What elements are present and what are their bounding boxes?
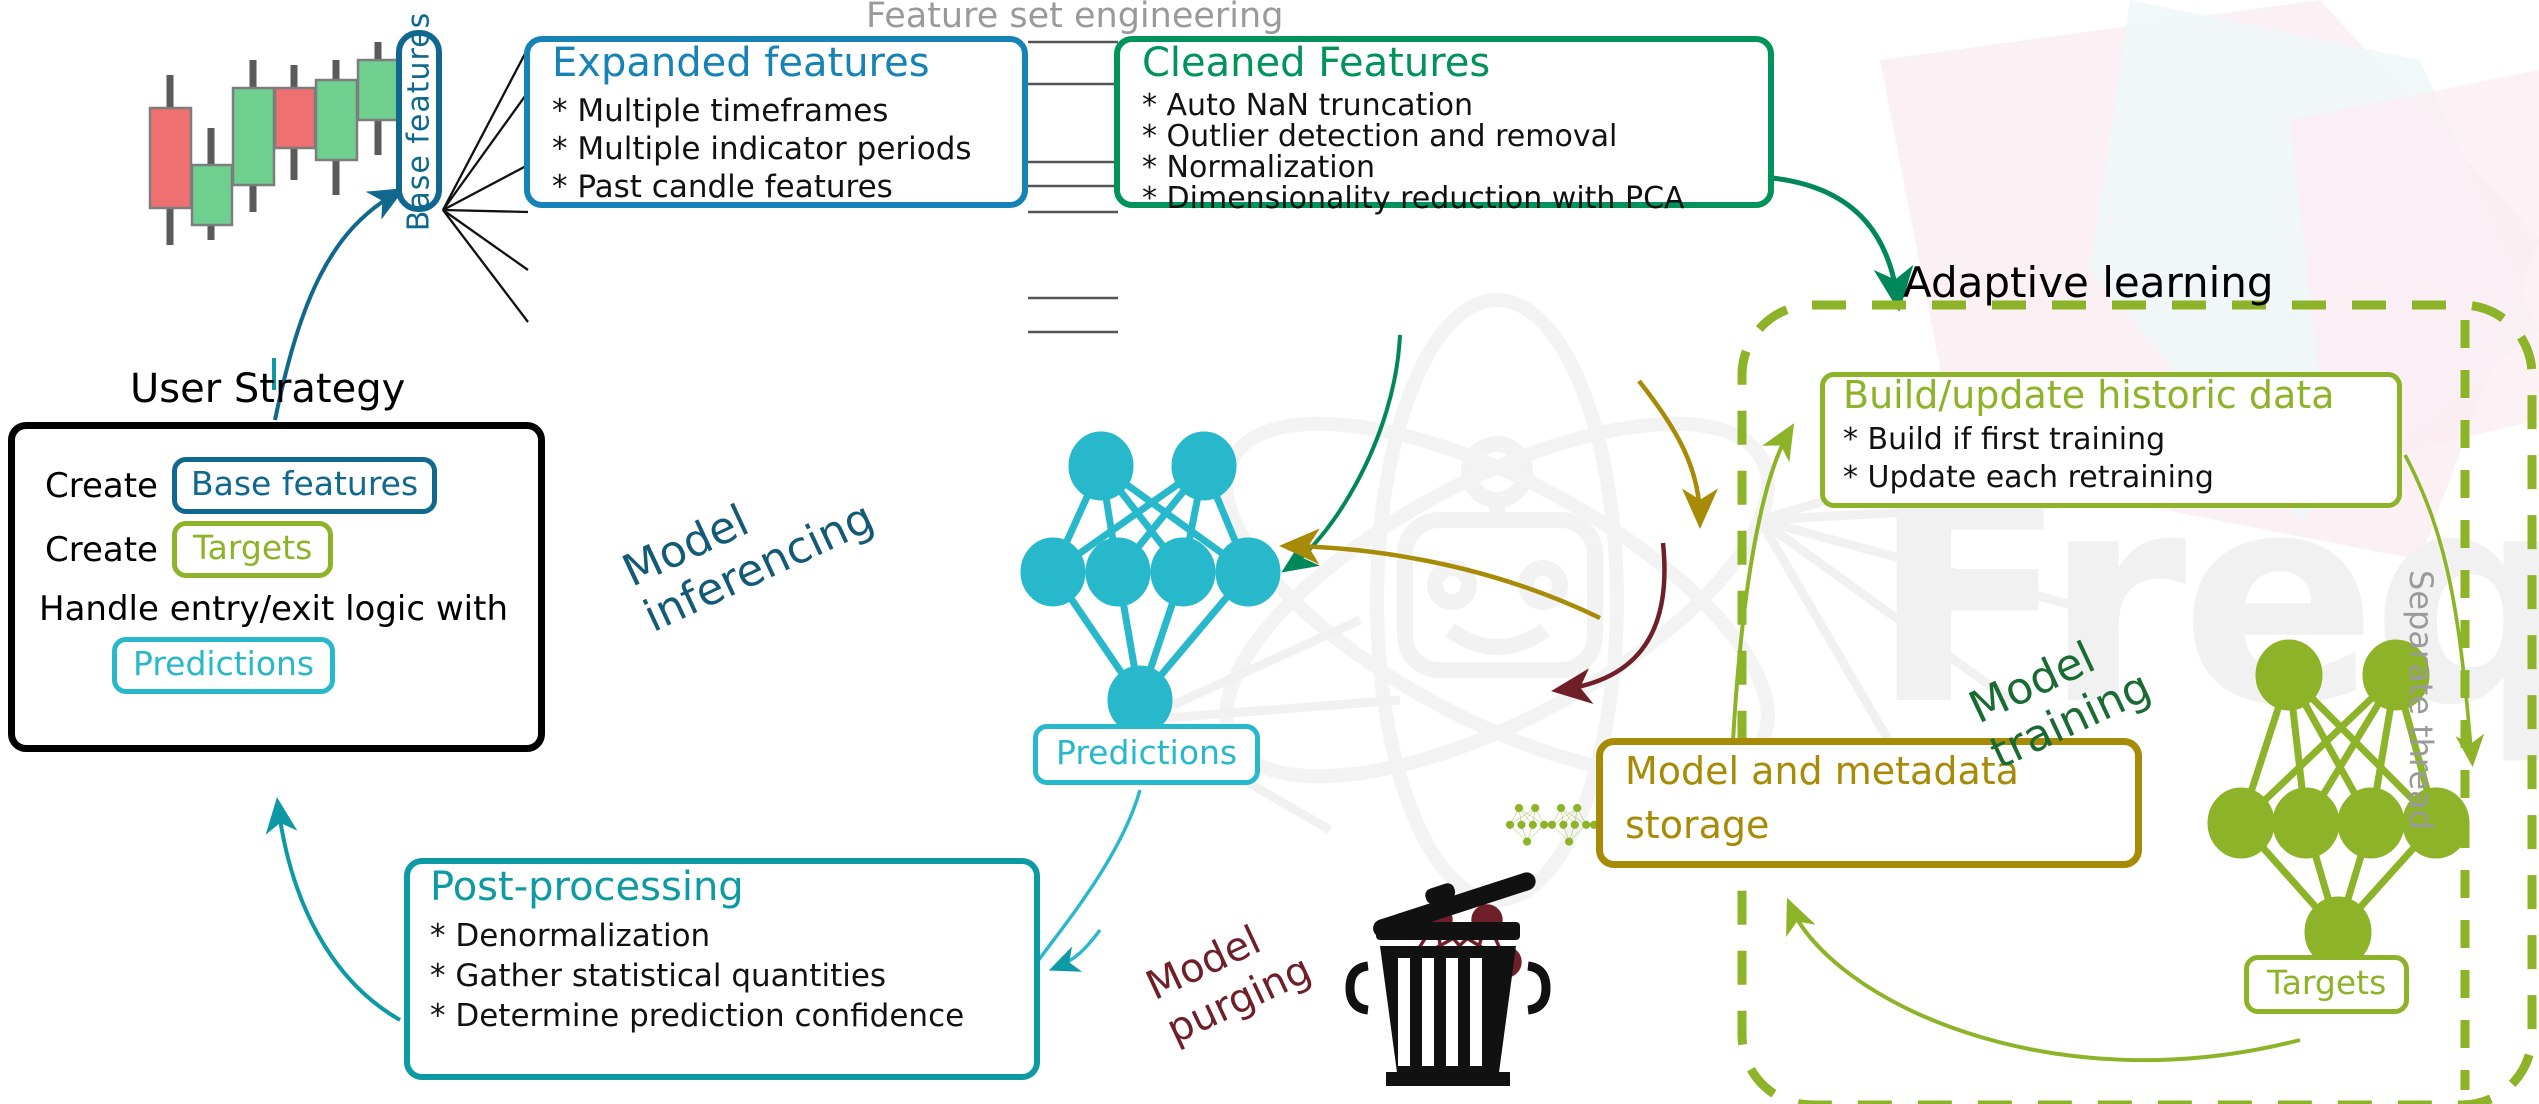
expanded-features-title: Expanded features <box>552 40 930 86</box>
model-storage-box[interactable]: Model and metadata storage <box>1596 738 2142 868</box>
post-processing-bullet-1: * Gather statistical quantities <box>430 956 964 996</box>
targets-pill-label: Targets <box>2267 963 2386 1002</box>
targets-pill[interactable]: Targets <box>2244 955 2409 1014</box>
cleaned-features-bullets: * Auto NaN truncation * Outlier detectio… <box>1142 90 1685 214</box>
base-features-pill[interactable]: Base features <box>396 30 442 212</box>
user-strategy-line-3: Handle entry/exit logic with <box>39 589 508 629</box>
predictions-pill[interactable]: Predictions <box>1033 724 1260 785</box>
expanded-features-bullet-2: * Past candle features <box>552 168 972 206</box>
user-strategy-line-2: Create Targets <box>45 521 333 578</box>
feature-set-engineering-label: Feature set engineering <box>866 0 1283 36</box>
user-strategy-box[interactable]: Create Base features Create Targets Hand… <box>8 422 545 752</box>
inference-neural-net <box>1024 435 1277 731</box>
post-processing-bullets: * Denormalization * Gather statistical q… <box>430 916 964 1036</box>
cleaned-features-bullet-3: * Dimensionality reduction with PCA <box>1142 183 1685 214</box>
cleaned-features-bullet-1: * Outlier detection and removal <box>1142 121 1685 152</box>
cleaned-features-bullet-0: * Auto NaN truncation <box>1142 90 1685 121</box>
predictions-pill-label: Predictions <box>1056 733 1237 772</box>
post-processing-title: Post-processing <box>430 864 744 910</box>
base-features-inline-pill[interactable]: Base features <box>172 457 437 514</box>
base-features-pill-label: Base features <box>402 11 437 231</box>
user-strategy-create-label-1: Create <box>45 466 158 506</box>
model-storage-line-2: storage <box>1625 803 1769 847</box>
post-processing-bullet-0: * Denormalization <box>430 916 964 956</box>
targets-inline-label: Targets <box>193 528 312 567</box>
build-update-bullet-0: * Build if first training <box>1843 421 2214 459</box>
adaptive-learning-label: Adaptive learning <box>1903 258 2274 307</box>
expanded-features-bullet-1: * Multiple indicator periods <box>552 130 972 168</box>
build-update-bullet-1: * Update each retraining <box>1843 459 2214 497</box>
separate-thread-label: Separate thread <box>2402 570 2440 830</box>
model-storage-line-1: Model and metadata <box>1625 749 2019 793</box>
user-strategy-create-label-2: Create <box>45 530 158 570</box>
post-processing-bullet-2: * Determine prediction confidence <box>430 996 964 1036</box>
cleaned-features-title: Cleaned Features <box>1142 40 1490 86</box>
user-strategy-title: User Strategy <box>130 366 405 412</box>
base-features-inline-label: Base features <box>191 464 418 503</box>
expanded-features-box[interactable]: Expanded features * Multiple timeframes … <box>524 36 1028 208</box>
build-update-title: Build/update historic data <box>1843 373 2335 417</box>
cleaned-features-box[interactable]: Cleaned Features * Auto NaN truncation *… <box>1114 36 1774 208</box>
user-strategy-line-1: Create Base features <box>45 457 437 514</box>
build-update-historic-data-box[interactable]: Build/update historic data * Build if fi… <box>1820 372 2402 508</box>
post-processing-box[interactable]: Post-processing * Denormalization * Gath… <box>404 858 1040 1080</box>
expanded-features-bullets: * Multiple timeframes * Multiple indicat… <box>552 92 972 206</box>
expanded-features-bullet-0: * Multiple timeframes <box>552 92 972 130</box>
diagram-canvas: FreqAI <box>0 0 2539 1104</box>
cleaned-features-bullet-2: * Normalization <box>1142 152 1685 183</box>
predictions-inline-label: Predictions <box>133 644 314 683</box>
build-update-bullets: * Build if first training * Update each … <box>1843 421 2214 497</box>
targets-inline-pill[interactable]: Targets <box>172 521 333 578</box>
predictions-inline-pill[interactable]: Predictions <box>112 637 335 694</box>
